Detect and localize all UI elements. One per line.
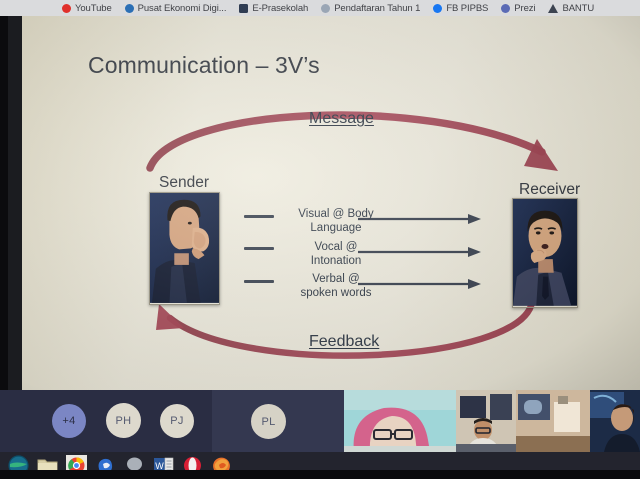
participant-hijab-glasses-icon xyxy=(344,390,456,452)
feedback-label: Feedback xyxy=(309,333,379,351)
app-square-icon xyxy=(239,4,248,13)
bookmark-label: YouTube xyxy=(75,3,112,14)
channel-text-verbal: Verbal @ spoken words xyxy=(271,273,401,300)
channel-line-1: Verbal @ xyxy=(271,273,401,287)
video-tile-participant-2[interactable] xyxy=(456,390,516,452)
avatar-pl[interactable]: PL xyxy=(251,404,286,439)
bookmark-pusat-ekonomi-digital[interactable]: Pusat Ekonomi Digi... xyxy=(125,3,227,14)
bookmark-label: BANTU xyxy=(562,3,594,14)
bookmark-youtube[interactable]: YouTube xyxy=(62,3,112,14)
receiver-photo-art xyxy=(513,199,577,306)
channel-text-visual: Visual @ Body Language xyxy=(271,208,401,235)
avatar-overflow-count[interactable]: +4 xyxy=(52,404,86,438)
receiver-label: Receiver xyxy=(519,181,580,199)
bullet-dash-visual xyxy=(244,215,274,218)
channel-line-2: Language xyxy=(271,222,401,236)
bookmark-label: FB PIPBS xyxy=(446,3,488,14)
bullet-dash-verbal xyxy=(244,280,274,283)
bookmark-pendaftaran-tahun-1[interactable]: Pendaftaran Tahun 1 xyxy=(321,3,420,14)
video-tile-participant-1[interactable] xyxy=(344,390,456,452)
avatar-label: PJ xyxy=(170,415,183,427)
video-tile-participant-4[interactable] xyxy=(590,390,640,452)
sender-photo xyxy=(149,192,220,305)
browser-bookmarks-bar[interactable]: YouTube Pusat Ekonomi Digi... E-Prasekol… xyxy=(0,0,640,16)
participant-woman-right-icon xyxy=(590,390,640,452)
participant-man-desk-icon xyxy=(456,390,516,452)
channel-line-1: Visual @ Body xyxy=(271,208,401,222)
video-conference-strip[interactable]: +4 PH PJ PL xyxy=(0,390,640,452)
drive-triangle-icon xyxy=(548,4,558,13)
bookmark-fb-pipbs[interactable]: FB PIPBS xyxy=(433,3,488,14)
bookmark-label: Pusat Ekonomi Digi... xyxy=(138,3,227,14)
globe-icon xyxy=(125,4,134,13)
avatar-ph[interactable]: PH xyxy=(106,403,141,438)
channel-line-1: Vocal @ xyxy=(271,241,401,255)
presentation-slide: Communication – 3V’s Message Feedback Se… xyxy=(22,16,640,398)
bookmark-label: E-Prasekolah xyxy=(252,3,308,14)
avatar-pj[interactable]: PJ xyxy=(160,404,194,438)
youtube-icon xyxy=(62,4,71,13)
participant-room-screen-icon xyxy=(516,390,590,452)
channel-text-vocal: Vocal @ Intonation xyxy=(271,241,401,268)
sender-photo-art xyxy=(150,193,219,303)
sender-label: Sender xyxy=(159,174,209,192)
channel-line-2: Intonation xyxy=(271,255,401,269)
channel-line-2: spoken words xyxy=(271,287,401,301)
bookmark-e-prasekolah[interactable]: E-Prasekolah xyxy=(239,3,308,14)
monitor-bezel-edge xyxy=(0,16,8,416)
receiver-photo xyxy=(512,198,578,308)
bookmark-label: Pendaftaran Tahun 1 xyxy=(334,3,420,14)
screen-photo: YouTube Pusat Ekonomi Digi... E-Prasekol… xyxy=(0,0,640,479)
screen-bottom-edge xyxy=(0,470,640,479)
bookmark-label: Prezi xyxy=(514,3,535,14)
avatar-label: PH xyxy=(116,415,132,427)
bookmark-bantu[interactable]: BANTU xyxy=(548,3,594,14)
video-tile-participant-3[interactable] xyxy=(516,390,590,452)
bookmark-prezi[interactable]: Prezi xyxy=(501,3,535,14)
message-label: Message xyxy=(309,110,374,128)
bullet-dash-vocal xyxy=(244,247,274,250)
avatar-label: +4 xyxy=(62,415,75,427)
facebook-icon xyxy=(433,4,442,13)
slide-title: Communication – 3V’s xyxy=(88,52,320,79)
avatar-label: PL xyxy=(261,416,275,428)
prezi-icon xyxy=(501,4,510,13)
cloud-icon xyxy=(321,4,330,13)
